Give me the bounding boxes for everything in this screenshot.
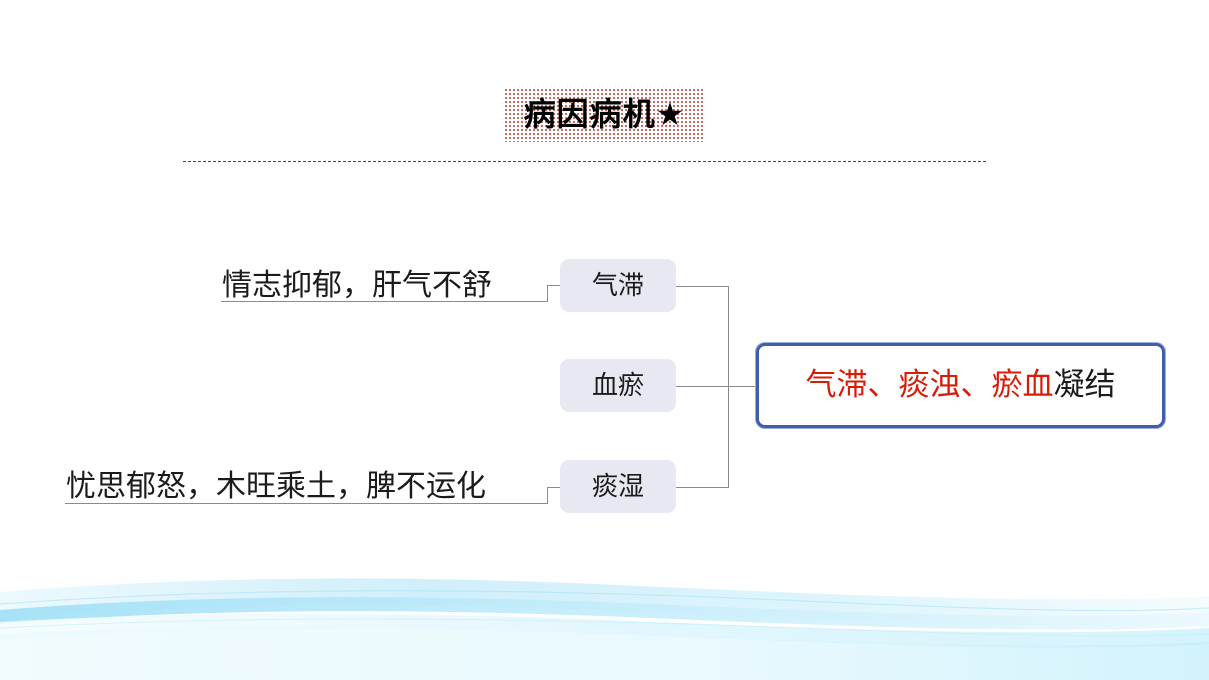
wave-band-2 [0, 597, 1209, 630]
title-divider [183, 161, 986, 162]
stage-box-qizhi: 气滞 [560, 259, 676, 312]
wave-band-1 [0, 578, 1209, 625]
stage-box-tanshi: 痰湿 [560, 460, 676, 513]
cause-text-1: 情志抑郁，肝气不舒 [222, 271, 492, 301]
slide-canvas: 病因病机★ 情志抑郁，肝气不舒 忧思郁怒，木旺乘土，脾不运化 气滞 血瘀 痰湿 … [0, 0, 1209, 680]
result-text: 气滞、痰浊、瘀血凝结 [806, 370, 1116, 401]
cause-underline-2 [65, 503, 547, 504]
bracket-stub-1 [676, 286, 729, 287]
stage-box-xueyu: 血瘀 [560, 359, 676, 412]
connector-elbow-2-vertical [547, 487, 548, 504]
wave-line-2 [0, 619, 1209, 636]
wave-band-3 [0, 614, 1209, 648]
cause-text-2: 忧思郁怒，木旺乘土，脾不运化 [66, 472, 486, 502]
connector-elbow-1-horizontal [547, 285, 561, 286]
bracket-stub-2 [676, 386, 729, 387]
wave-line-1 [0, 591, 1209, 611]
result-box: 气滞、痰浊、瘀血凝结 [756, 343, 1165, 428]
cause-underline-1 [221, 301, 547, 302]
page-title-container: 病因病机★ [0, 88, 1209, 142]
result-tail: 凝结 [1054, 367, 1116, 403]
bracket-output-line [728, 386, 758, 387]
page-title: 病因病机★ [524, 95, 686, 133]
wave-band-4 [0, 627, 1209, 680]
result-emphasis: 气滞、痰浊、瘀血 [806, 367, 1054, 403]
connector-elbow-2-horizontal [547, 487, 561, 488]
page-title-highlight: 病因病机★ [504, 88, 706, 142]
connector-elbow-1-vertical [547, 285, 548, 302]
bracket-stub-3 [676, 487, 729, 488]
bottom-wave-decoration [0, 560, 1209, 680]
